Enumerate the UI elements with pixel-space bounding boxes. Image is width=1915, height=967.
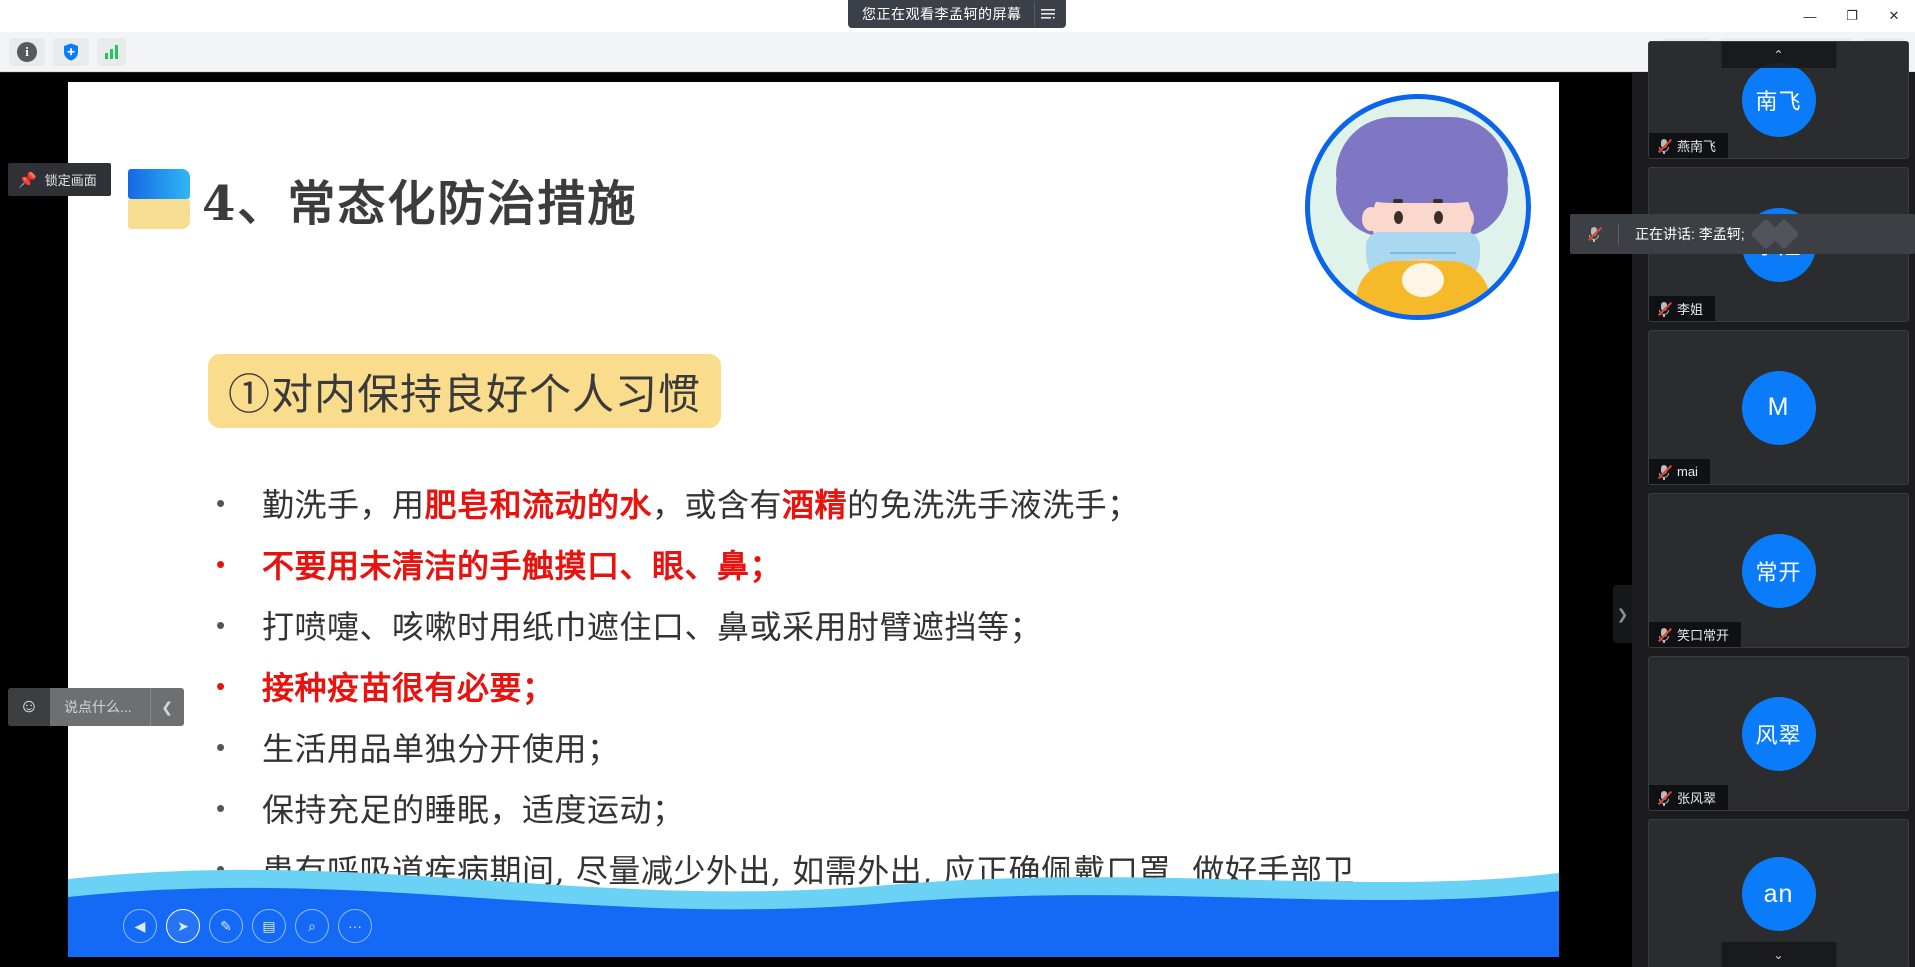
slide-bullet: •接种疫苗很有必要； [216,665,1396,712]
signal-bars-icon [105,45,118,59]
participant-tile[interactable]: 风翠张风翠 [1648,656,1909,811]
avatar: M [1742,371,1816,445]
participant-panel-toggle[interactable]: ❯ [1613,585,1632,643]
mic-muted-icon [1657,301,1671,317]
participant-name: mai [1677,464,1698,479]
screen-share-banner: 您正在观看李孟轲的屏幕 [848,0,1066,28]
participant-nametag: 燕南飞 [1649,133,1728,158]
minimize-button[interactable]: — [1789,0,1831,32]
bullet-text: 保持充足的睡眠，适度运动； [262,787,685,834]
bullet-text: 勤洗手，用肥皂和流动的水，或含有酒精的免洗洗手液洗手； [262,482,1140,529]
mic-muted-icon [1657,790,1671,806]
avatar: 常开 [1742,534,1816,608]
slide-bullet: •保持充足的睡眠，适度运动； [216,787,1396,834]
participant-name: 笑口常开 [1677,625,1729,644]
more-button[interactable]: ··· [338,909,372,943]
mic-muted-icon [1657,464,1671,480]
lock-view-label: 锁定画面 [45,170,97,189]
slide-grid-button[interactable]: ▤ [252,909,286,943]
hamburger-icon [1041,8,1055,20]
bullet-text: 打喷嚏、咳嗽时用纸巾遮住口、鼻或采用肘臂遮挡等； [262,604,1042,651]
participant-strip[interactable]: 南飞燕南飞⌃李姐李姐Mmai常开笑口常开风翠张风翠an⌄ [1642,73,1915,967]
bullet-marker: • [216,787,262,829]
pen-button[interactable]: ✎ [209,909,243,943]
participant-tile[interactable]: 南飞燕南飞⌃ [1648,41,1909,159]
participant-nametag: mai [1649,459,1710,484]
slide-title: 4、常态化防治措施 [202,164,637,234]
participant-name: 燕南飞 [1677,136,1716,155]
close-button[interactable]: ✕ [1873,0,1915,32]
speaker-decoration [1759,223,1795,245]
title-bar: 您正在观看李孟轲的屏幕 — ❐ ✕ [0,0,1915,32]
slide-bullet: •打喷嚏、咳嗽时用纸巾遮住口、鼻或采用肘臂遮挡等； [216,604,1396,651]
ppt-control-bar: ◀➤✎▤⌕··· [123,909,372,943]
title-decoration [128,169,190,229]
slide-bullet: •不要用未清洁的手触摸口、眼、鼻； [216,543,1396,590]
participant-tile[interactable]: 常开笑口常开 [1648,493,1909,648]
participant-nametag: 笑口常开 [1649,622,1741,647]
scroll-down-button[interactable]: ⌄ [1721,942,1836,967]
slide-subtitle: ①对内保持良好个人习惯 [228,361,701,422]
slide-title-row: 4、常态化防治措施 [128,164,637,234]
chat-input[interactable]: 说点什么... [50,697,150,717]
slide-bullet: •勤洗手，用肥皂和流动的水，或含有酒精的免洗洗手液洗手； [216,482,1396,529]
active-speaker-label: 正在讲话: 李孟轲; [1619,224,1745,244]
pointer-button[interactable]: ➤ [166,909,200,943]
shield-plus-icon [61,42,81,62]
share-banner-label: 您正在观看李孟轲的屏幕 [862,4,1034,24]
bullet-marker: • [216,604,262,646]
bullet-marker: • [216,665,262,707]
toast-mic-icon [1570,226,1618,242]
toolbar-left-group: i [0,38,126,66]
masked-person-illustration [1305,94,1531,320]
encryption-button[interactable] [53,38,89,66]
shared-screen-stage: 📌 锁定画面 4、常态化防治措施 ①对内保持良好个人习惯 •勤洗手，用肥皂和流动… [0,73,1632,967]
emoji-icon[interactable]: ☺ [8,688,50,726]
pin-icon: 📌 [18,171,37,189]
network-quality-button[interactable] [97,38,126,66]
avatar: an [1742,857,1816,931]
presentation-slide: 4、常态化防治措施 ①对内保持良好个人习惯 •勤洗手，用肥皂和流动的水，或含有酒… [68,82,1559,957]
info-icon: i [17,42,37,62]
meeting-window: 您正在观看李孟轲的屏幕 — ❐ ✕ i [0,0,1915,967]
maximize-button[interactable]: ❐ [1831,0,1873,32]
bullet-marker: • [216,482,262,524]
active-speaker-toast: 正在讲话: 李孟轲; [1570,214,1915,254]
previous-slide-button[interactable]: ◀ [123,909,157,943]
participant-tile[interactable]: an⌄ [1648,819,1909,967]
bullet-marker: • [216,726,262,768]
meeting-toolbar: i 12:02 演讲者视图 ▼ [0,32,1915,72]
participant-nametag: 李姐 [1649,296,1715,321]
avatar: 风翠 [1742,697,1816,771]
mic-muted-icon [1657,138,1671,154]
chat-input-bar[interactable]: ☺ 说点什么... ❮ [8,688,184,726]
slide-subtitle-pill: ①对内保持良好个人习惯 [208,354,721,428]
bullet-text: 不要用未清洁的手触摸口、眼、鼻； [262,543,782,590]
participant-name: 张风翠 [1677,788,1716,807]
window-controls: — ❐ ✕ [1789,0,1915,32]
participant-name: 李姐 [1677,299,1703,318]
zoom-button[interactable]: ⌕ [295,909,329,943]
lock-view-button[interactable]: 📌 锁定画面 [8,163,111,196]
bullet-text: 接种疫苗很有必要； [262,665,555,712]
bullet-text: 生活用品单独分开使用； [262,726,620,773]
avatar: 南飞 [1742,63,1816,137]
slide-bullet: •生活用品单独分开使用； [216,726,1396,773]
banner-menu-icon[interactable] [1034,2,1062,26]
meeting-info-button[interactable]: i [9,38,45,66]
chat-collapse-icon[interactable]: ❮ [150,688,184,726]
scroll-up-button[interactable]: ⌃ [1721,42,1836,68]
participant-tile[interactable]: Mmai [1648,330,1909,485]
mic-muted-icon [1657,627,1671,643]
participant-nametag: 张风翠 [1649,785,1728,810]
bullet-marker: • [216,543,262,585]
